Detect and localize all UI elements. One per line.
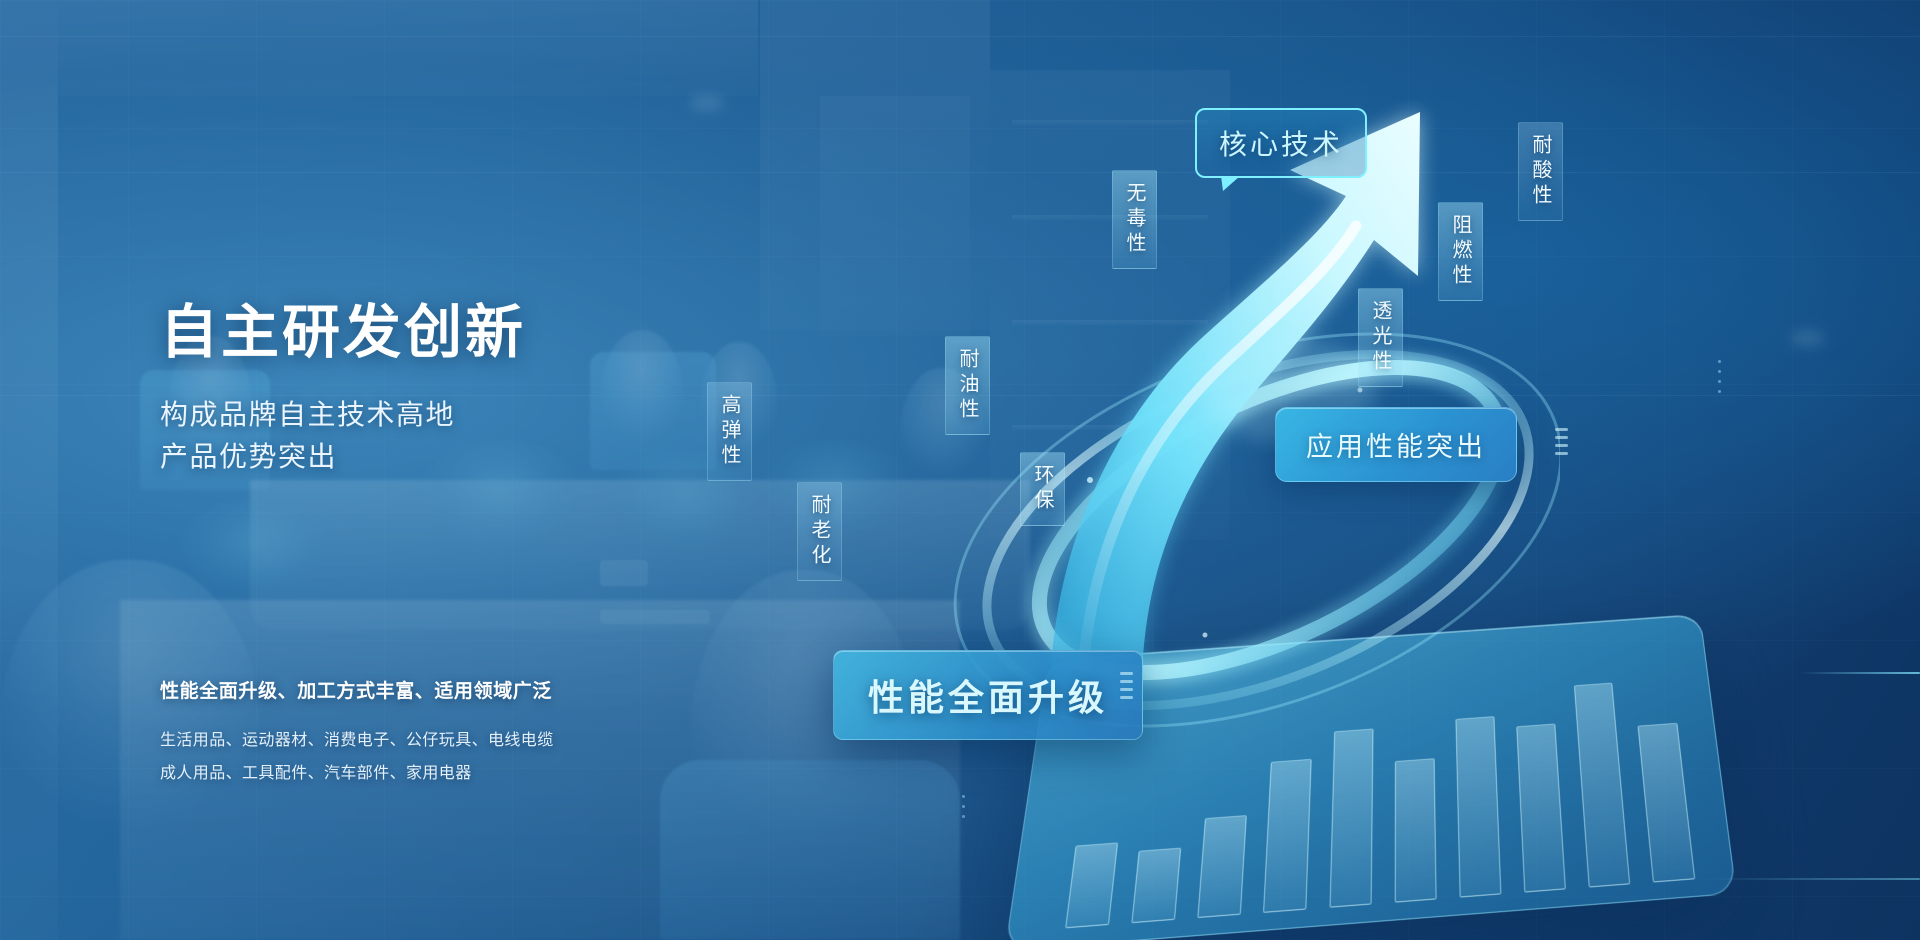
tag-non-toxic[interactable]: 无毒性 xyxy=(1112,170,1157,269)
bar-chart-bar xyxy=(1516,724,1566,893)
bar-chart-bar xyxy=(1198,815,1247,918)
tag-light-transmission[interactable]: 透光性 xyxy=(1358,288,1403,387)
feature-list: 生活用品、运动器材、消费电子、公仔玩具、电线电缆 成人用品、工具配件、汽车部件、… xyxy=(160,725,554,791)
hero-banner: 自主研发创新 构成品牌自主技术高地 产品优势突出 性能全面升级、加工方式丰富、适… xyxy=(0,0,1920,940)
bar-chart-bar xyxy=(1455,716,1501,898)
banner-tick-marks xyxy=(1120,672,1133,699)
tag-flame-retardant[interactable]: 阻燃性 xyxy=(1438,202,1483,301)
bar-chart-bar xyxy=(1329,729,1373,908)
core-technology-badge[interactable]: 核心技术 xyxy=(1195,108,1367,178)
feature-block: 性能全面升级、加工方式丰富、适用领域广泛 生活用品、运动器材、消费电子、公仔玩具… xyxy=(160,676,554,791)
bar-chart-bar xyxy=(1065,843,1117,928)
tag-oil-resistance[interactable]: 耐油性 xyxy=(945,336,990,435)
upgrade-banner[interactable]: 性能全面升级 xyxy=(833,650,1143,740)
application-performance-pill[interactable]: 应用性能突出 xyxy=(1275,407,1517,482)
page-title: 自主研发创新 xyxy=(160,300,800,366)
bar-chart-bar xyxy=(1132,847,1181,923)
feature-heading: 性能全面升级、加工方式丰富、适用领域广泛 xyxy=(160,676,554,703)
hero-subtitle-line-2: 产品优势突出 xyxy=(160,436,800,477)
bar-chart-bar xyxy=(1638,723,1695,882)
tag-acid-resistance[interactable]: 耐酸性 xyxy=(1518,122,1563,221)
bar-chart-bar xyxy=(1264,758,1312,912)
pill-tick-marks xyxy=(1555,428,1568,455)
hero-subtitle: 构成品牌自主技术高地 产品优势突出 xyxy=(160,394,800,477)
feature-line-2: 成人用品、工具配件、汽车部件、家用电器 xyxy=(160,758,554,791)
tag-eco-friendly[interactable]: 环保 xyxy=(1020,452,1065,526)
tag-aging-resistance[interactable]: 耐老化 xyxy=(797,482,842,581)
feature-line-1: 生活用品、运动器材、消费电子、公仔玩具、电线电缆 xyxy=(160,725,554,758)
bar-chart-bar xyxy=(1394,758,1436,903)
hero-subtitle-line-1: 构成品牌自主技术高地 xyxy=(160,394,800,435)
hero-copy: 自主研发创新 构成品牌自主技术高地 产品优势突出 xyxy=(160,300,800,477)
infographic: 核心技术 高弹性 耐老化 耐油性 环保 无毒性 耐酸性 阻燃性 透光性 应用性能… xyxy=(960,60,1920,940)
